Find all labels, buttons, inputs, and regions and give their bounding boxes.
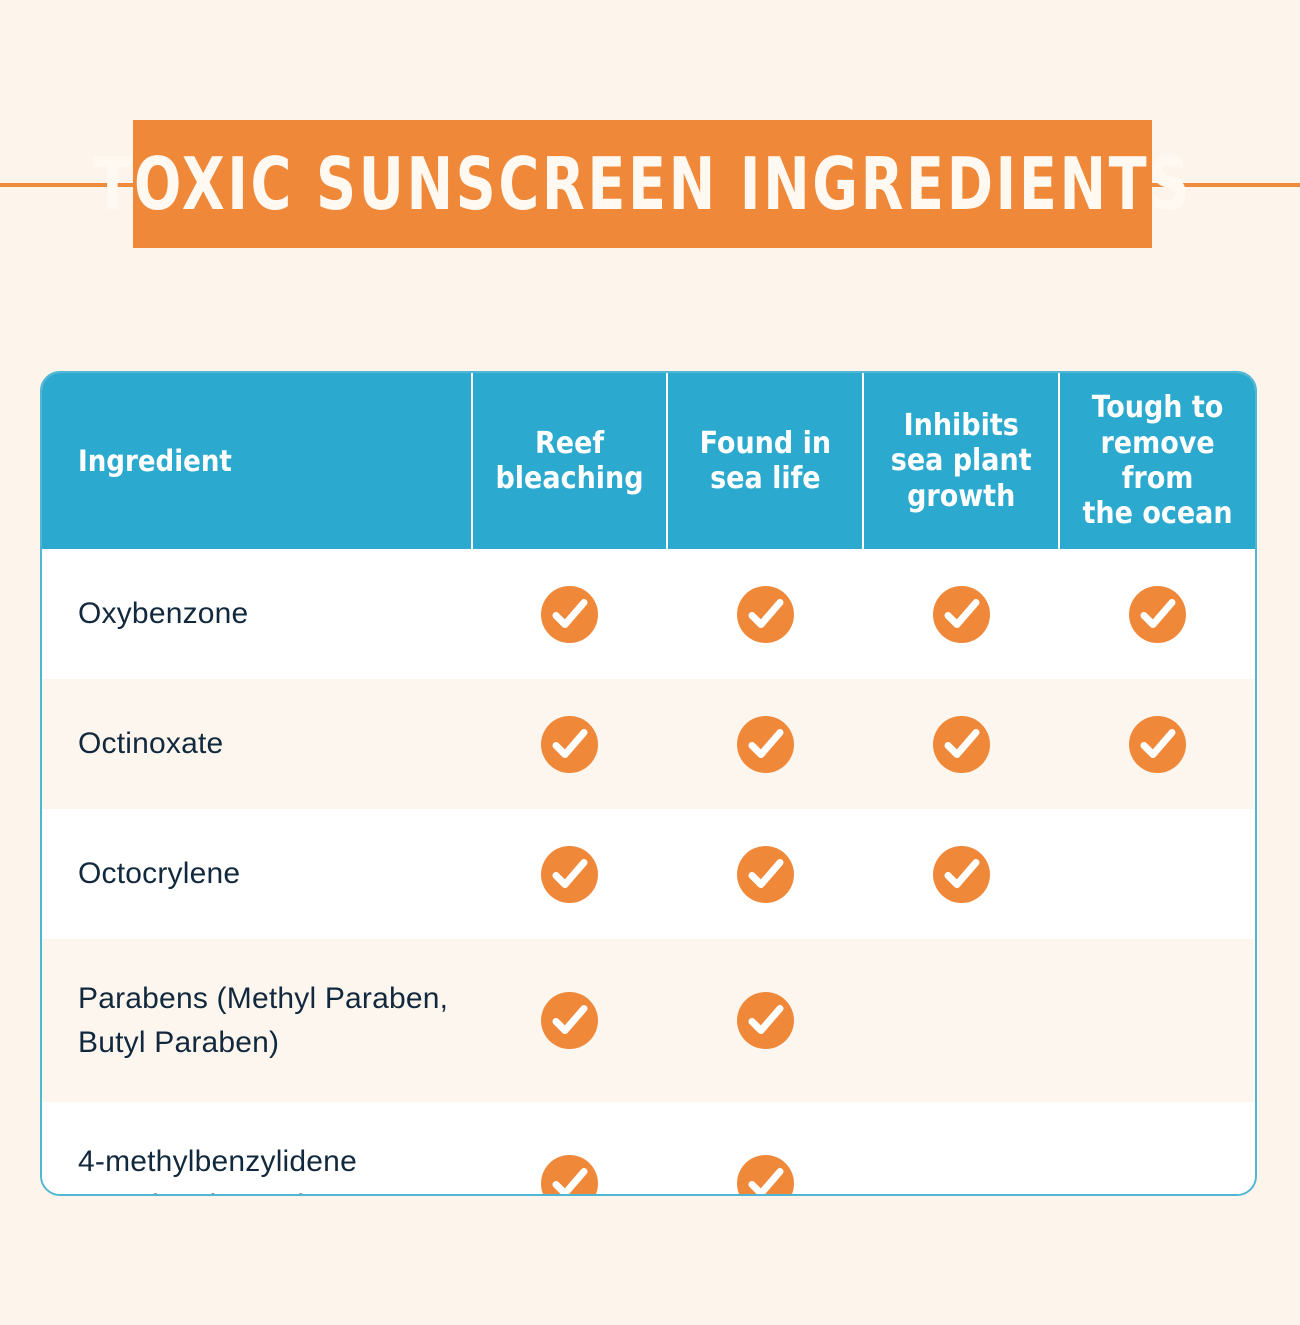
cell-reef-bleaching — [472, 809, 668, 939]
check-circle-icon — [1129, 586, 1186, 643]
cell-ingredient-name: Parabens (Methyl Paraben, Butyl Paraben) — [42, 939, 472, 1102]
cell-found-in-sea-life — [667, 1102, 863, 1196]
check-circle-icon — [541, 846, 598, 903]
ingredients-table-container: Ingredient Reef bleaching Found in sea l… — [40, 371, 1257, 1196]
table-row: Octinoxate — [42, 679, 1255, 809]
column-header-ingredient-label: Ingredient — [78, 444, 471, 478]
cell-inhibits-sea-plant-growth — [863, 549, 1059, 679]
check-circle-icon — [541, 1155, 598, 1196]
column-header-inhibits-line3: growth — [864, 479, 1058, 514]
column-header-reef-bleaching-line1: Reef — [473, 426, 667, 461]
cell-inhibits-sea-plant-growth — [863, 809, 1059, 939]
cell-tough-to-remove — [1059, 809, 1255, 939]
title-banner: TOXIC SUNSCREEN INGREDIENTS — [133, 120, 1152, 248]
cell-tough-to-remove — [1059, 679, 1255, 809]
cell-reef-bleaching — [472, 679, 668, 809]
column-header-found-in-sea-life-line1: Found in — [668, 426, 862, 461]
cell-found-in-sea-life — [667, 939, 863, 1102]
table-row: Oxybenzone — [42, 549, 1255, 679]
cell-ingredient-name: 4-methylbenzylidene camphor (4MBC) — [42, 1102, 472, 1196]
column-header-tough-line1: Tough to — [1060, 390, 1255, 425]
cell-found-in-sea-life — [667, 809, 863, 939]
check-circle-icon — [541, 992, 598, 1049]
check-circle-icon — [933, 846, 990, 903]
check-circle-icon — [737, 1155, 794, 1196]
cell-found-in-sea-life — [667, 549, 863, 679]
column-header-inhibits-line2: sea plant — [864, 443, 1058, 478]
column-header-tough-line3: the ocean — [1060, 496, 1255, 531]
check-circle-icon — [541, 586, 598, 643]
check-circle-icon — [1129, 716, 1186, 773]
title-banner-zone: TOXIC SUNSCREEN INGREDIENTS — [0, 120, 1300, 250]
cell-ingredient-name: Oxybenzone — [42, 549, 472, 679]
cell-tough-to-remove — [1059, 549, 1255, 679]
cell-reef-bleaching — [472, 549, 668, 679]
column-header-found-in-sea-life-line2: sea life — [668, 461, 862, 496]
column-header-tough-line2: remove from — [1060, 426, 1255, 497]
column-header-tough-to-remove: Tough to remove from the ocean — [1059, 373, 1255, 549]
table-row: 4-methylbenzylidene camphor (4MBC) — [42, 1102, 1255, 1196]
cell-ingredient-name: Octocrylene — [42, 809, 472, 939]
table-header-row: Ingredient Reef bleaching Found in sea l… — [42, 373, 1255, 549]
table-header: Ingredient Reef bleaching Found in sea l… — [42, 373, 1255, 549]
page-title: TOXIC SUNSCREEN INGREDIENTS — [93, 148, 1192, 220]
table-row: Parabens (Methyl Paraben, Butyl Paraben) — [42, 939, 1255, 1102]
check-circle-icon — [933, 716, 990, 773]
cell-found-in-sea-life — [667, 679, 863, 809]
cell-tough-to-remove — [1059, 939, 1255, 1102]
check-circle-icon — [933, 586, 990, 643]
ingredients-table: Ingredient Reef bleaching Found in sea l… — [42, 373, 1255, 1196]
cell-reef-bleaching — [472, 939, 668, 1102]
column-header-reef-bleaching: Reef bleaching — [472, 373, 668, 549]
table-body: OxybenzoneOctinoxateOctocryleneParabens … — [42, 549, 1255, 1196]
check-circle-icon — [737, 586, 794, 643]
cell-ingredient-name: Octinoxate — [42, 679, 472, 809]
cell-reef-bleaching — [472, 1102, 668, 1196]
check-circle-icon — [737, 992, 794, 1049]
cell-inhibits-sea-plant-growth — [863, 1102, 1059, 1196]
cell-inhibits-sea-plant-growth — [863, 939, 1059, 1102]
cell-inhibits-sea-plant-growth — [863, 679, 1059, 809]
column-header-inhibits-line1: Inhibits — [864, 408, 1058, 443]
column-header-found-in-sea-life: Found in sea life — [667, 373, 863, 549]
check-circle-icon — [737, 716, 794, 773]
cell-tough-to-remove — [1059, 1102, 1255, 1196]
check-circle-icon — [541, 716, 598, 773]
column-header-reef-bleaching-line2: bleaching — [473, 461, 667, 496]
column-header-inhibits-sea-plant-growth: Inhibits sea plant growth — [863, 373, 1059, 549]
check-circle-icon — [737, 846, 794, 903]
table-row: Octocrylene — [42, 809, 1255, 939]
column-header-ingredient: Ingredient — [42, 373, 472, 549]
